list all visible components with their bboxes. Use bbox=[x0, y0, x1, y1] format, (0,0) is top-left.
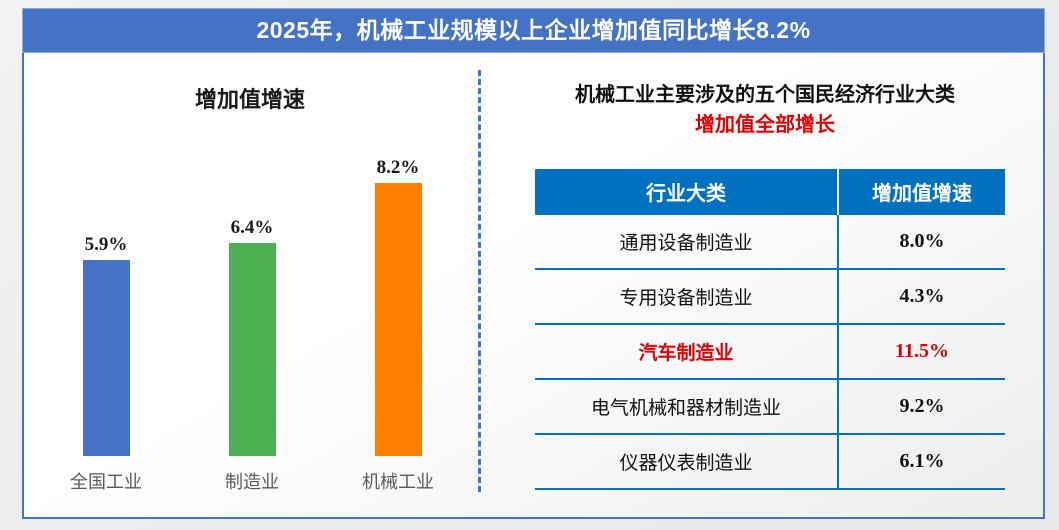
cell-growth: 8.0% bbox=[838, 214, 1005, 269]
title-banner: 2025年，机械工业规模以上企业增加值同比增长8.2% bbox=[22, 8, 1045, 53]
table-heading-main: 机械工业主要涉及的五个国民经济行业大类 bbox=[490, 78, 1040, 107]
cell-industry: 专用设备制造业 bbox=[535, 269, 838, 324]
bar-rect bbox=[375, 183, 422, 456]
industry-table-panel: 机械工业主要涉及的五个国民经济行业大类 增加值全部增长 行业大类 增加值增速 通… bbox=[490, 56, 1040, 516]
table-row: 汽车制造业11.5% bbox=[535, 324, 1005, 379]
slide-canvas: 2025年，机械工业规模以上企业增加值同比增长8.2% 增加值增速 5.9%全国… bbox=[0, 0, 1059, 530]
cell-growth: 4.3% bbox=[838, 269, 1005, 324]
bar-value-label: 8.2% bbox=[328, 157, 468, 179]
table-row: 通用设备制造业8.0% bbox=[535, 214, 1005, 269]
bar-group: 6.4%制造业 bbox=[182, 217, 322, 456]
bar-group: 8.2%机械工业 bbox=[328, 157, 468, 456]
chart-plot-area: 5.9%全国工业6.4%制造业8.2%机械工业 bbox=[24, 56, 476, 516]
table-row: 电气机械和器材制造业9.2% bbox=[535, 379, 1005, 434]
column-header-growth: 增加值增速 bbox=[838, 169, 1005, 214]
cell-industry: 通用设备制造业 bbox=[535, 214, 838, 269]
table-row: 专用设备制造业4.3% bbox=[535, 269, 1005, 324]
bar-value-label: 5.9% bbox=[36, 234, 176, 256]
bar-category-label: 制造业 bbox=[182, 456, 322, 494]
cell-industry: 电气机械和器材制造业 bbox=[535, 379, 838, 434]
cell-industry: 仪器仪表制造业 bbox=[535, 434, 838, 489]
panel-divider bbox=[478, 70, 481, 492]
bar-value-label: 6.4% bbox=[182, 217, 322, 239]
bar-rect bbox=[229, 243, 276, 456]
cell-growth: 6.1% bbox=[838, 434, 1005, 489]
bar-category-label: 全国工业 bbox=[36, 456, 176, 494]
cell-growth: 9.2% bbox=[838, 379, 1005, 434]
bar-rect bbox=[83, 260, 130, 456]
bar-category-label: 机械工业 bbox=[328, 456, 468, 494]
bar-chart-panel: 增加值增速 5.9%全国工业6.4%制造业8.2%机械工业 bbox=[24, 56, 476, 516]
table-body: 通用设备制造业8.0%专用设备制造业4.3%汽车制造业11.5%电气机械和器材制… bbox=[535, 214, 1005, 489]
cell-growth: 11.5% bbox=[838, 324, 1005, 379]
table-row: 仪器仪表制造业6.1% bbox=[535, 434, 1005, 489]
column-header-industry: 行业大类 bbox=[535, 169, 838, 214]
page-title: 2025年，机械工业规模以上企业增加值同比增长8.2% bbox=[256, 19, 810, 42]
bar-group: 5.9%全国工业 bbox=[36, 234, 176, 456]
industry-growth-table: 行业大类 增加值增速 通用设备制造业8.0%专用设备制造业4.3%汽车制造业11… bbox=[535, 169, 1005, 490]
table-header-row: 行业大类 增加值增速 bbox=[535, 169, 1005, 214]
table-heading-sub: 增加值全部增长 bbox=[490, 108, 1040, 137]
cell-industry: 汽车制造业 bbox=[535, 324, 838, 379]
